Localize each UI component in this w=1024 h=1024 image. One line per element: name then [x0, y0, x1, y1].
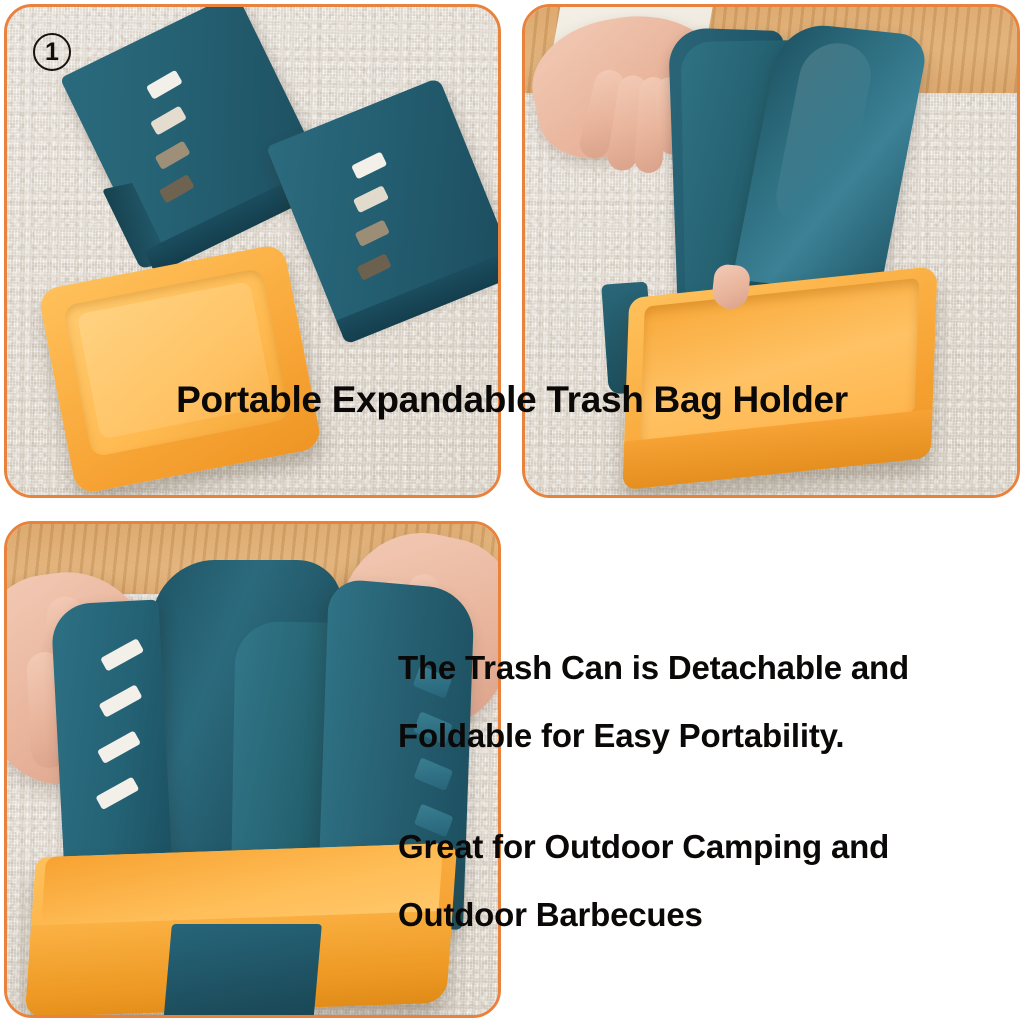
panel-3-photo: [7, 524, 498, 1015]
feature-line-1: The Trash Can is Detachable and: [398, 649, 909, 687]
feature-line-2: Foldable for Easy Portability.: [398, 717, 844, 755]
teal-wall-foot: [162, 924, 322, 1015]
panel-2-photo: [525, 7, 1017, 495]
feature-line-4: Outdoor Barbecues: [398, 896, 703, 934]
infographic-canvas: 1 2: [0, 0, 1024, 1024]
feature-line-3: Great for Outdoor Camping and: [398, 828, 889, 866]
orange-base-tray: [623, 266, 938, 490]
product-panel-2: 2: [522, 4, 1020, 498]
panel-1-photo: [7, 7, 498, 495]
headline-text: Portable Expandable Trash Bag Holder: [0, 379, 1024, 421]
step-badge-1: 1: [33, 33, 71, 71]
product-panel-3: 3: [4, 521, 501, 1018]
product-panel-1: 1: [4, 4, 501, 498]
